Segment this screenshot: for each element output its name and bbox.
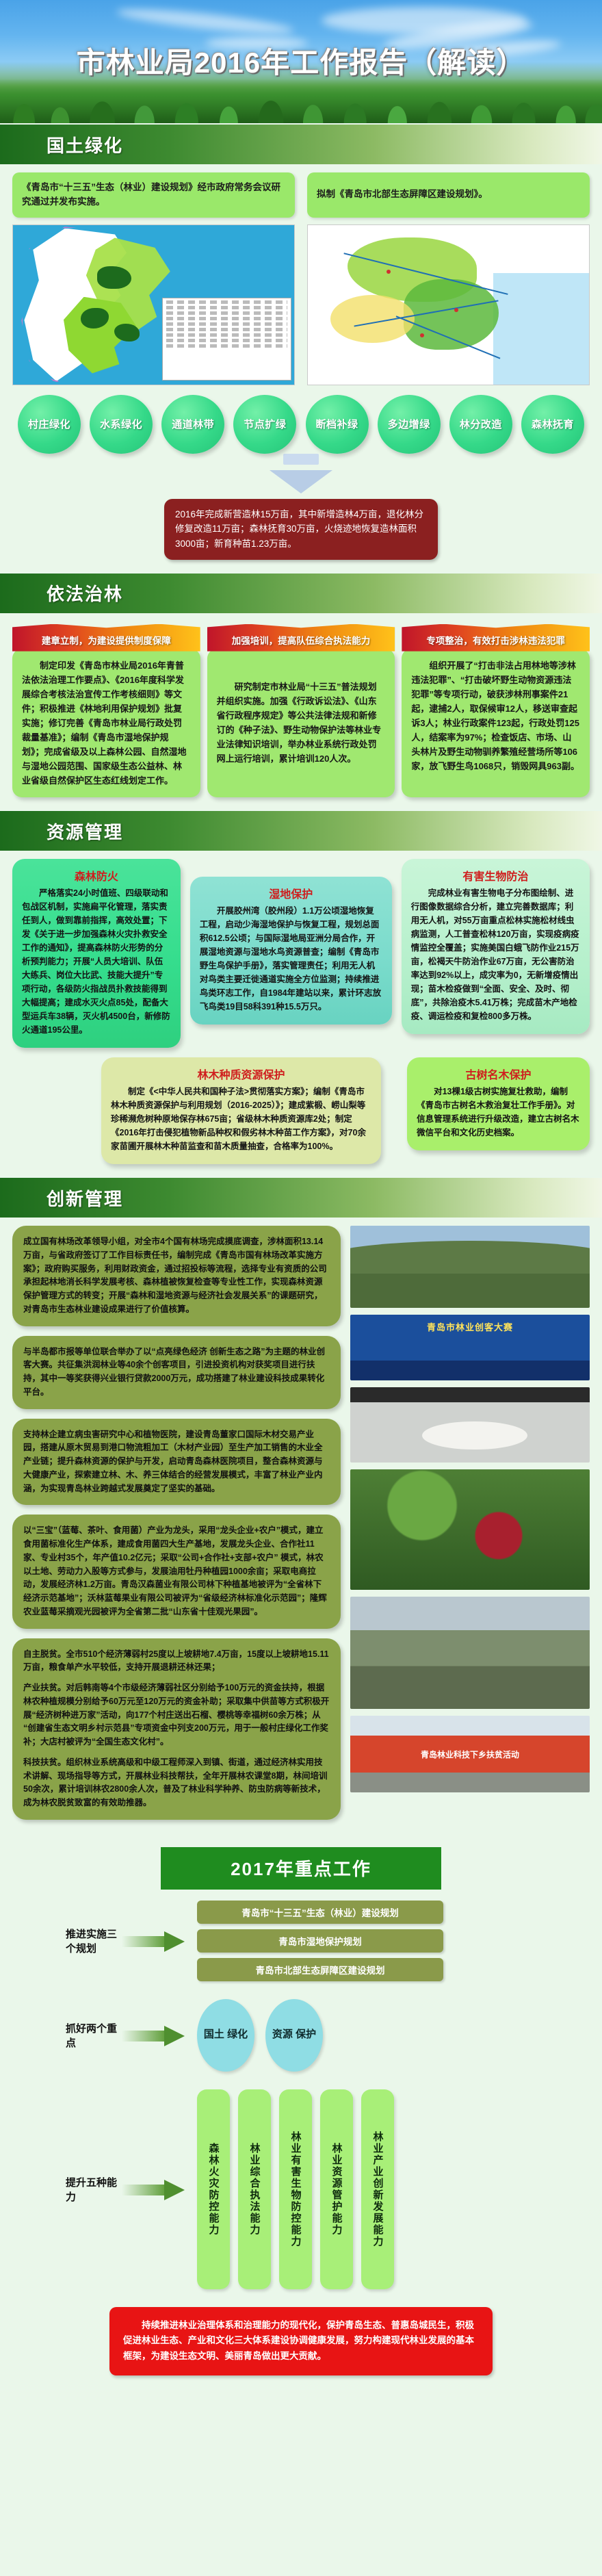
map-marker — [454, 308, 458, 312]
section-body-innovation-management: 成立国有林场改革领导小组，对全市4个国有林场完成摸底调查，涉林面积13.14万亩… — [0, 1218, 602, 1832]
capability-industry-innovation[interactable]: 林业产业创新发展能力 — [361, 2089, 394, 2289]
section-title: 创新管理 — [47, 1185, 123, 1211]
capability-pest-control[interactable]: 林业有害生物防控能力 — [279, 2089, 312, 2289]
card-institution: 制定印发《青岛市林业局2016年青普法依法治理工作要点》、《2016年度科学发展… — [12, 649, 200, 797]
qingdao-ecological-plan-map — [12, 224, 295, 385]
section-plan-2017: 2017年重点工作 推进实施三个规划 青岛市“十三五”生态（林业）建设规划 青岛… — [0, 1832, 602, 2393]
photo-maker-contest-stage: 青岛市林业创客大赛 — [350, 1315, 590, 1380]
plan-2017-title: 2017年重点工作 — [161, 1847, 441, 1890]
note-card: 拟制《青岛市北部生态屏障区建设规划》。 — [307, 172, 590, 218]
photo-mountain-forest — [350, 1226, 590, 1308]
measure-pill-node[interactable]: 节点扩绿 — [233, 395, 296, 454]
card-state-forest-farm-reform: 成立国有林场改革领导小组，对全市4个国有林场完成摸底调查，涉林面积13.14万亩… — [12, 1226, 341, 1326]
card-body: 制定《<中华人民共和国种子法>贯彻落实方案》；编制《青岛市林木种质资源保护与利用… — [111, 1085, 371, 1153]
innovation-text-column: 成立国有林场改革领导小组，对全市4个国有林场完成摸底调查，涉林面积13.14万亩… — [12, 1226, 341, 1820]
plan-row-five-capabilities: 提升五种能力 森林火灾防控能力 林业综合执法能力 林业有害生物防控能力 林业资源… — [12, 2089, 590, 2289]
capability-fire-control[interactable]: 森林火灾防控能力 — [197, 2089, 230, 2289]
card-title: 古树名木保护 — [417, 1066, 580, 1082]
card-title: 有害生物防治 — [411, 867, 580, 884]
section-header-land-greening: 国土绿化 — [0, 125, 602, 164]
card-title: 林木种质资源保护 — [111, 1066, 371, 1082]
photo-banner-caption: 青岛市林业创客大赛 — [427, 1320, 513, 1333]
land-greening-maps — [12, 224, 590, 385]
section-title: 国土绿化 — [47, 132, 123, 157]
card-maker-contest: 与半岛都市报等单位联合举办了以“点亮绿色经济 创新生态之路”为主题的林业创客大赛… — [12, 1336, 341, 1409]
poverty-industry: 产业扶贫。对后韩南等4个市级经济薄弱社区分别给予100万元的资金扶持，根据林农种… — [23, 1682, 330, 1749]
poverty-self-reliance: 自主脱贫。全市510个经济薄弱村25度以上坡耕地7.4万亩，15度以上坡耕地15… — [23, 1648, 330, 1675]
focus-land-greening[interactable]: 国土 绿化 — [197, 1999, 254, 2072]
note-card: 《青岛市“十三五”生态（林业）建设规划》经市政府常务会议研究通过并发布实施。 — [12, 172, 295, 218]
card-title: 森林防火 — [22, 867, 171, 884]
card-body: 开展胶州湾（胶州段）1.1万公顷湿地恢复工程，启动少海湿地保护与恢复工程，规划总… — [200, 904, 382, 1014]
section-header-resource-management: 资源管理 — [0, 811, 602, 851]
photo-truck-caption: 青岛林业科技下乡扶贫活动 — [421, 1749, 519, 1760]
card-body: 对13棵1级古树实施复壮救助，编制《青岛市古树名木救治复壮工作手册》。对信息管理… — [417, 1085, 580, 1139]
section-title: 依法治林 — [47, 580, 123, 606]
capability-resource-management[interactable]: 林业资源管护能力 — [320, 2089, 353, 2289]
ribbon-training[interactable]: 加强培训，提高队伍综合执法能力 — [207, 624, 395, 652]
card-pest-control: 有害生物防治 完成林业有害生物电子分布图绘制、进行图像数据综合分析，建立完善数据… — [402, 859, 590, 1034]
map-sea — [493, 273, 589, 385]
card-training: 研究制定市林业局“十三五”普法规划并组织实施。加强《行政诉讼法》、《山东省行政程… — [207, 649, 395, 797]
plan-row-label: 推进实施三个规划 — [12, 1927, 122, 1955]
focus-resource-protection[interactable]: 资源 保护 — [265, 1999, 323, 2072]
measure-pill-corridor[interactable]: 通道林带 — [161, 395, 224, 454]
photo-livestock — [350, 1387, 590, 1463]
poverty-technology: 科技扶贫。组织林业系统高级和中级工程师深入到镇、街道，通过经济林实用技术讲解、现… — [23, 1756, 330, 1810]
focus-list: 国土 绿化 资源 保护 — [197, 1999, 323, 2072]
north-ecological-barrier-map — [307, 224, 590, 385]
card-timber-industry-park: 支持林企建立病虫害研究中心和植物医院，建设青岛董家口国际木材交易产业园，搭建从原… — [12, 1419, 341, 1506]
section-title: 资源管理 — [47, 819, 123, 844]
plan-row-two-focuses: 抓好两个重点 国土 绿化 资源 保护 — [12, 1999, 590, 2072]
arrow-right-icon — [122, 1931, 185, 1950]
card-three-treasures-industry: 以“三宝”（蓝莓、茶叶、食用菌）产业为龙头，采用“龙头企业+农户”模式，建立食用… — [12, 1515, 341, 1628]
resource-cards-row-1: 森林防火 严格落实24小时值班、四级联动和包战区机制，实施扁平化管理，落实责任到… — [12, 859, 590, 1048]
section-header-innovation-management: 创新管理 — [0, 1178, 602, 1218]
hero-banner: 市林业局2016年工作报告（解读） — [0, 0, 602, 123]
ribbon-institution[interactable]: 建章立制，为建设提供制度保障 — [12, 624, 200, 652]
plan-list: 青岛市“十三五”生态（林业）建设规划 青岛市湿地保护规划 青岛市北部生态屏障区建… — [197, 1901, 443, 1981]
lawful-forestry-cards: 制定印发《青岛市林业局2016年青普法依法治理工作要点》、《2016年度科学发展… — [12, 649, 590, 797]
plan-item-eco-forestry[interactable]: 青岛市“十三五”生态（林业）建设规划 — [197, 1901, 443, 1924]
section-body-resource-management: 森林防火 严格落实24小时值班、四级联动和包战区机制，实施扁平化管理，落实责任到… — [0, 851, 602, 1176]
arrow-right-icon — [122, 2026, 185, 2045]
card-forest-fire-prevention: 森林防火 严格落实24小时值班、四级联动和包战区机制，实施扁平化管理，落实责任到… — [12, 859, 181, 1048]
measure-pill-tending[interactable]: 森林抚育 — [521, 395, 584, 454]
innovation-photo-column: 青岛市林业创客大赛 青岛林业科技下乡扶贫活动 — [350, 1226, 590, 1820]
plan-2017-footer: 持续推进林业治理体系和治理能力的现代化，保护青岛生态、普惠岛城民生，积极促进林业… — [109, 2307, 493, 2375]
photo-berry-orchard — [350, 1469, 590, 1590]
plan-row-label: 提升五种能力 — [12, 2175, 122, 2204]
card-body: 完成林业有害生物电子分布图绘制、进行图像数据综合分析，建立完善数据库；利用无人机… — [411, 886, 580, 1023]
plan-item-wetland[interactable]: 青岛市湿地保护规划 — [197, 1929, 443, 1953]
page-title: 市林业局2016年工作报告（解读） — [0, 40, 602, 81]
resource-cards-row-2: 林木种质资源保护 制定《<中华人民共和国种子法>贯彻落实方案》；编制《青岛市林木… — [12, 1057, 590, 1164]
plan-item-north-barrier[interactable]: 青岛市北部生态屏障区建设规划 — [197, 1958, 443, 1981]
capability-list: 森林火灾防控能力 林业综合执法能力 林业有害生物防控能力 林业资源管护能力 林业… — [197, 2089, 394, 2289]
measure-pill-village[interactable]: 村庄绿化 — [18, 395, 81, 454]
measure-pill-multiedge[interactable]: 多边增绿 — [378, 395, 441, 454]
card-ancient-tree-protection: 古树名木保护 对13棵1级古树实施复壮救助，编制《青岛市古树名木救治复壮工作手册… — [407, 1057, 590, 1150]
arrow-right-icon — [122, 2180, 185, 2199]
card-body: 严格落实24小时值班、四级联动和包战区机制，实施扁平化管理，落实责任到人，做到靠… — [22, 886, 171, 1037]
capability-law-enforcement[interactable]: 林业综合执法能力 — [238, 2089, 271, 2289]
map-legend — [162, 298, 291, 381]
card-title: 湿地保护 — [200, 885, 382, 901]
card-wetland-protection: 湿地保护 开展胶州湾（胶州段）1.1万公顷湿地恢复工程，启动少海湿地保护与恢复工… — [190, 877, 392, 1025]
card-enforcement: 组织开展了“打击非法占用林地等涉林违法犯罪”、“打击破坏野生动物资源违法犯罪”等… — [402, 649, 590, 797]
down-arrow-icon — [270, 470, 332, 493]
measure-pill-water[interactable]: 水系绿化 — [90, 395, 153, 454]
section-header-lawful-forestry: 依法治林 — [0, 574, 602, 613]
ribbon-enforcement[interactable]: 专项整治，有效打击涉林违法犯罪 — [402, 624, 590, 652]
plan-row-three-plans: 推进实施三个规划 青岛市“十三五”生态（林业）建设规划 青岛市湿地保护规划 青岛… — [12, 1901, 590, 1981]
card-germplasm-protection: 林木种质资源保护 制定《<中华人民共和国种子法>贯彻落实方案》；编制《青岛市林木… — [101, 1057, 381, 1164]
cloud-decoration — [116, 4, 295, 38]
plan-row-label: 抓好两个重点 — [12, 2021, 122, 2050]
infographic-page: 市林业局2016年工作报告（解读） 国土绿化 《青岛市“十三五”生态（林业）建设… — [0, 0, 602, 2393]
measure-pill-standimprove[interactable]: 林分改造 — [449, 395, 512, 454]
section-body-lawful-forestry: 建章立制，为建设提供制度保障 加强培训，提高队伍综合执法能力 专项整治，有效打击… — [0, 613, 602, 810]
measure-pill-gap[interactable]: 断档补绿 — [306, 395, 369, 454]
lawful-forestry-ribbons: 建章立制，为建设提供制度保障 加强培训，提高队伍综合执法能力 专项整治，有效打击… — [12, 624, 590, 652]
innovation-layout: 成立国有林场改革领导小组，对全市4个国有林场完成摸底调查，涉林面积13.14万亩… — [12, 1226, 590, 1820]
land-greening-summary: 2016年完成新营造林15万亩，其中新增造林4万亩，退化林分修复改造11万亩；森… — [164, 499, 438, 560]
photo-field-activity — [350, 1597, 590, 1709]
greening-measures-list: 村庄绿化 水系绿化 通道林带 节点扩绿 断档补绿 多边增绿 林分改造 森林抚育 — [12, 395, 590, 454]
photo-tech-outreach-truck: 青岛林业科技下乡扶贫活动 — [350, 1716, 590, 1792]
land-greening-notes: 《青岛市“十三五”生态（林业）建设规划》经市政府常务会议研究通过并发布实施。 拟… — [12, 172, 590, 218]
section-body-land-greening: 《青岛市“十三五”生态（林业）建设规划》经市政府常务会议研究通过并发布实施。 拟… — [0, 164, 602, 572]
down-arrow-stem — [283, 454, 319, 465]
card-poverty-alleviation: 自主脱贫。全市510个经济薄弱村25度以上坡耕地7.4万亩，15度以上坡耕地15… — [12, 1638, 341, 1820]
